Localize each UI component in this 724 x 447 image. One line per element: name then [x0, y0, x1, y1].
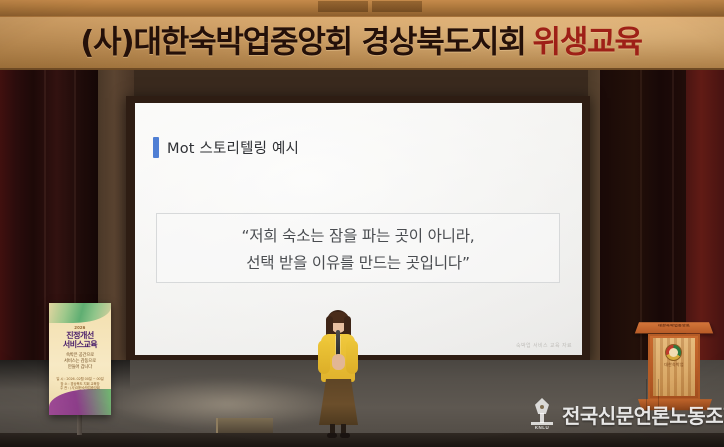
curtain-far-right [686, 70, 724, 360]
rollup-banner-stand [77, 415, 82, 435]
slide-title-row: Mot 스토리텔링 예시 [153, 137, 299, 158]
rollup-banner-title-line-2: 서비스교육 [49, 340, 111, 349]
pen-nib-logo-icon: KNLU [529, 398, 555, 430]
curtain-fold [640, 70, 642, 360]
podium-emblem-label: 대한숙박업 [655, 362, 693, 368]
seminar-stage-photo: (사)대한숙박업중앙회 경상북도지회위생교육 Mot 스토리텔링 예시 “저희 … [0, 0, 724, 447]
slide-quote-box: “저희 숙소는 잠을 파는 곳이 아니라, 선택 받을 이유를 만드는 곳입니다… [156, 213, 560, 283]
watermark-organization: 전국신문언론노동조합 [562, 400, 724, 429]
rollup-banner-foot-line-1: 일 시 : 2026. 02월 00일 ~ 00일 [49, 377, 111, 382]
speaker-arm-right [346, 340, 358, 374]
ceiling-panel [318, 1, 368, 12]
slide-quote-line-2: 선택 받을 이유를 만드는 곳입니다” [246, 251, 470, 273]
stage-front-edge [0, 433, 724, 447]
watermark-abbreviation: KNLU [529, 425, 555, 430]
watermark: KNLU 전국신문언론노동조합 [529, 398, 724, 430]
ceiling-panel [372, 1, 422, 12]
speaker-person [315, 310, 361, 437]
rollup-banner-bottom-graphic [49, 389, 111, 415]
speaker-skirt [319, 379, 358, 425]
curtain-fold [672, 70, 674, 360]
rollup-banner-foot-line-3: 주 관 : (사)대한숙박업중앙회 [49, 386, 111, 391]
podium-emblem-center [669, 348, 678, 357]
slide-footer-note: 숙박업 서비스 교육 자료 [516, 342, 572, 349]
slide-title: Mot 스토리텔링 예시 [167, 137, 299, 158]
rollup-banner-title-line-1: 진정개선 [49, 331, 111, 340]
pen-nib-hole [540, 405, 544, 409]
rollup-banner-top-graphic [49, 303, 111, 323]
event-banner: (사)대한숙박업중앙회 경상북도지회위생교육 [0, 16, 724, 70]
microphone-icon [336, 330, 340, 356]
event-banner-accent-title: 위생교육 [533, 24, 642, 60]
rollup-banner-body: 숙박은 공간으로 서비스는 감동으로 만들어 갑니다 [49, 353, 111, 371]
ceiling-beam [0, 0, 724, 16]
speaker-hands [332, 354, 345, 370]
rollup-banner-body-line-3: 만들어 갑니다 [49, 365, 111, 371]
slide-quote-line-1: “저희 숙소는 잠을 파는 곳이 아니라, [241, 224, 474, 246]
speaker-shoe-right [340, 433, 350, 438]
rollup-banner-title: 진정개선 서비스교육 [49, 331, 111, 349]
speaker-shoe-left [327, 433, 337, 438]
slide-title-accent-bar [153, 137, 159, 158]
rollup-banner-year: 2026 [49, 325, 111, 330]
rollup-banner: 2026 진정개선 서비스교육 숙박은 공간으로 서비스는 감동으로 만들어 갑… [49, 303, 111, 415]
event-banner-main-title: (사)대한숙박업중앙회 경상북도지회 [80, 24, 525, 60]
rollup-banner-footer: 일 시 : 2026. 02월 00일 ~ 00일 장 소 : 경상북도 지회 … [49, 377, 111, 391]
speaker-arm-left [318, 340, 330, 374]
event-banner-text: (사)대한숙박업중앙회 경상북도지회위생교육 [0, 27, 724, 58]
curtain-fold [44, 70, 46, 360]
